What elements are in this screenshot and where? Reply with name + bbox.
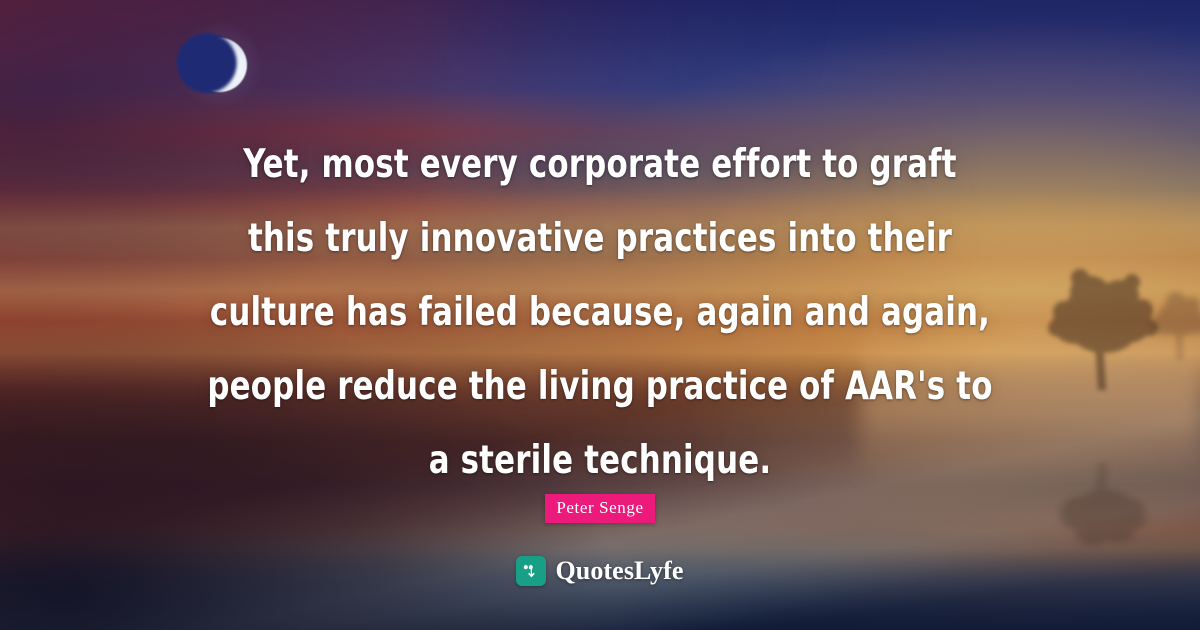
quote-line: culture has failed because, again and ag… [178, 276, 1023, 350]
quote-mark-icon [516, 556, 546, 586]
quote-line: a sterile technique. [178, 424, 1023, 498]
brand-logo[interactable]: QuotesLyfe [0, 556, 1200, 586]
quote-line: Yet, most every corporate effort to graf… [178, 128, 1023, 202]
quote-line: this truly innovative practices into the… [178, 202, 1023, 276]
quote-text-block: Yet, most every corporate effort to graf… [0, 128, 1200, 498]
crescent-moon-icon [186, 31, 254, 99]
quote-line: people reduce the living practice of AAR… [178, 350, 1023, 424]
author-name-badge[interactable]: Peter Senge [545, 494, 654, 523]
author-attribution: Peter Senge [0, 494, 1200, 523]
brand-name-text: QuotesLyfe [555, 556, 683, 586]
quote-card: Yet, most every corporate effort to graf… [0, 0, 1200, 630]
